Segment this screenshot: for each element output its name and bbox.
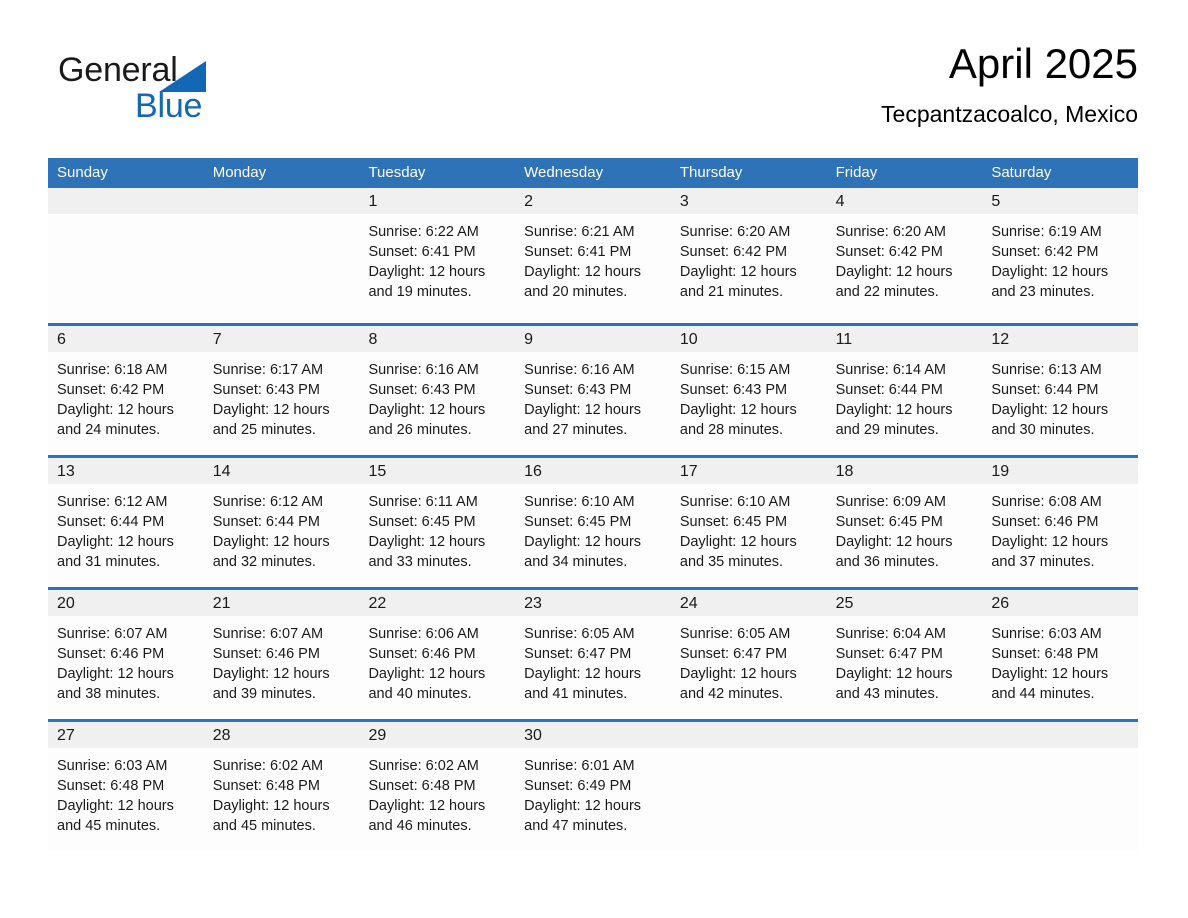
daylight-duration-line1: Daylight: 12 hours — [836, 532, 975, 552]
sunrise-time: Sunrise: 6:15 AM — [680, 360, 819, 380]
calendar-day-cell[interactable]: 6Sunrise: 6:18 AMSunset: 6:42 PMDaylight… — [48, 326, 204, 455]
daylight-duration-line1: Daylight: 12 hours — [991, 664, 1130, 684]
day-sun-info: Sunrise: 6:14 AMSunset: 6:44 PMDaylight:… — [827, 352, 983, 440]
sunset-time: Sunset: 6:45 PM — [680, 512, 819, 532]
sunset-time: Sunset: 6:43 PM — [524, 380, 663, 400]
sunset-time: Sunset: 6:45 PM — [524, 512, 663, 532]
day-sun-info: Sunrise: 6:13 AMSunset: 6:44 PMDaylight:… — [982, 352, 1138, 440]
day-number: 30 — [515, 722, 671, 748]
day-sun-info: Sunrise: 6:15 AMSunset: 6:43 PMDaylight:… — [671, 352, 827, 440]
day-sun-info: Sunrise: 6:07 AMSunset: 6:46 PMDaylight:… — [204, 616, 360, 704]
day-sun-info: Sunrise: 6:20 AMSunset: 6:42 PMDaylight:… — [671, 214, 827, 302]
calendar-day-cell[interactable]: 14Sunrise: 6:12 AMSunset: 6:44 PMDayligh… — [204, 458, 360, 587]
calendar-day-cell[interactable]: 11Sunrise: 6:14 AMSunset: 6:44 PMDayligh… — [827, 326, 983, 455]
sunset-time: Sunset: 6:47 PM — [524, 644, 663, 664]
day-sun-info: Sunrise: 6:05 AMSunset: 6:47 PMDaylight:… — [515, 616, 671, 704]
day-number: 25 — [827, 590, 983, 616]
sunrise-time: Sunrise: 6:20 AM — [836, 222, 975, 242]
day-sun-info: Sunrise: 6:02 AMSunset: 6:48 PMDaylight:… — [359, 748, 515, 836]
daylight-duration-line1: Daylight: 12 hours — [368, 400, 507, 420]
sunset-time: Sunset: 6:42 PM — [680, 242, 819, 262]
daylight-duration-line2: and 46 minutes. — [368, 816, 507, 836]
daylight-duration-line1: Daylight: 12 hours — [57, 532, 196, 552]
calendar-day-cell-empty — [827, 722, 983, 851]
daylight-duration-line1: Daylight: 12 hours — [680, 400, 819, 420]
daylight-duration-line1: Daylight: 12 hours — [680, 532, 819, 552]
sunset-time: Sunset: 6:42 PM — [991, 242, 1130, 262]
daylight-duration-line2: and 24 minutes. — [57, 420, 196, 440]
calendar-day-cell[interactable]: 4Sunrise: 6:20 AMSunset: 6:42 PMDaylight… — [827, 188, 983, 323]
sunrise-time: Sunrise: 6:14 AM — [836, 360, 975, 380]
sunrise-time: Sunrise: 6:03 AM — [991, 624, 1130, 644]
daylight-duration-line2: and 27 minutes. — [524, 420, 663, 440]
daylight-duration-line2: and 43 minutes. — [836, 684, 975, 704]
sunset-time: Sunset: 6:41 PM — [368, 242, 507, 262]
calendar-day-cell[interactable]: 21Sunrise: 6:07 AMSunset: 6:46 PMDayligh… — [204, 590, 360, 719]
daylight-duration-line1: Daylight: 12 hours — [57, 400, 196, 420]
day-sun-info: Sunrise: 6:10 AMSunset: 6:45 PMDaylight:… — [515, 484, 671, 572]
daylight-duration-line1: Daylight: 12 hours — [368, 664, 507, 684]
calendar-day-cell[interactable]: 19Sunrise: 6:08 AMSunset: 6:46 PMDayligh… — [982, 458, 1138, 587]
daylight-duration-line2: and 37 minutes. — [991, 552, 1130, 572]
sunrise-time: Sunrise: 6:06 AM — [368, 624, 507, 644]
day-number: 27 — [48, 722, 204, 748]
calendar-grid: Sunday Monday Tuesday Wednesday Thursday… — [48, 158, 1138, 851]
daylight-duration-line2: and 38 minutes. — [57, 684, 196, 704]
day-number: 17 — [671, 458, 827, 484]
day-number: 19 — [982, 458, 1138, 484]
daylight-duration-line1: Daylight: 12 hours — [57, 796, 196, 816]
daylight-duration-line2: and 19 minutes. — [368, 282, 507, 302]
daylight-duration-line2: and 25 minutes. — [213, 420, 352, 440]
day-number: 23 — [515, 590, 671, 616]
day-number: 9 — [515, 326, 671, 352]
calendar-day-cell[interactable]: 5Sunrise: 6:19 AMSunset: 6:42 PMDaylight… — [982, 188, 1138, 323]
calendar-day-cell[interactable]: 29Sunrise: 6:02 AMSunset: 6:48 PMDayligh… — [359, 722, 515, 851]
daylight-duration-line2: and 31 minutes. — [57, 552, 196, 572]
sunrise-time: Sunrise: 6:07 AM — [213, 624, 352, 644]
day-number: 1 — [359, 188, 515, 214]
daylight-duration-line2: and 45 minutes. — [213, 816, 352, 836]
day-sun-info: Sunrise: 6:11 AMSunset: 6:45 PMDaylight:… — [359, 484, 515, 572]
day-number: 29 — [359, 722, 515, 748]
sunrise-time: Sunrise: 6:02 AM — [368, 756, 507, 776]
day-sun-info: Sunrise: 6:07 AMSunset: 6:46 PMDaylight:… — [48, 616, 204, 704]
day-number: 10 — [671, 326, 827, 352]
sunset-time: Sunset: 6:48 PM — [991, 644, 1130, 664]
day-number — [827, 722, 983, 748]
daylight-duration-line1: Daylight: 12 hours — [524, 664, 663, 684]
day-sun-info: Sunrise: 6:03 AMSunset: 6:48 PMDaylight:… — [982, 616, 1138, 704]
day-sun-info: Sunrise: 6:22 AMSunset: 6:41 PMDaylight:… — [359, 214, 515, 302]
daylight-duration-line2: and 36 minutes. — [836, 552, 975, 572]
day-sun-info: Sunrise: 6:09 AMSunset: 6:45 PMDaylight:… — [827, 484, 983, 572]
sunset-time: Sunset: 6:44 PM — [213, 512, 352, 532]
day-number: 26 — [982, 590, 1138, 616]
sunset-time: Sunset: 6:48 PM — [368, 776, 507, 796]
day-sun-info: Sunrise: 6:08 AMSunset: 6:46 PMDaylight:… — [982, 484, 1138, 572]
page-subtitle-location: Tecpantzacoalco, Mexico — [881, 100, 1138, 128]
sunset-time: Sunset: 6:45 PM — [368, 512, 507, 532]
sunrise-time: Sunrise: 6:20 AM — [680, 222, 819, 242]
sunset-time: Sunset: 6:45 PM — [836, 512, 975, 532]
day-sun-info: Sunrise: 6:16 AMSunset: 6:43 PMDaylight:… — [359, 352, 515, 440]
sunset-time: Sunset: 6:42 PM — [57, 380, 196, 400]
day-sun-info: Sunrise: 6:16 AMSunset: 6:43 PMDaylight:… — [515, 352, 671, 440]
daylight-duration-line2: and 47 minutes. — [524, 816, 663, 836]
daylight-duration-line1: Daylight: 12 hours — [524, 400, 663, 420]
day-sun-info: Sunrise: 6:04 AMSunset: 6:47 PMDaylight:… — [827, 616, 983, 704]
calendar-day-cell[interactable]: 1Sunrise: 6:22 AMSunset: 6:41 PMDaylight… — [359, 188, 515, 323]
daylight-duration-line2: and 30 minutes. — [991, 420, 1130, 440]
calendar-week-row: 6Sunrise: 6:18 AMSunset: 6:42 PMDaylight… — [48, 323, 1138, 455]
sunrise-time: Sunrise: 6:19 AM — [991, 222, 1130, 242]
calendar-day-cell[interactable]: 8Sunrise: 6:16 AMSunset: 6:43 PMDaylight… — [359, 326, 515, 455]
calendar-weeks: 1Sunrise: 6:22 AMSunset: 6:41 PMDaylight… — [48, 188, 1138, 851]
weekday-header-friday: Friday — [827, 158, 983, 188]
calendar-day-cell[interactable]: 26Sunrise: 6:03 AMSunset: 6:48 PMDayligh… — [982, 590, 1138, 719]
daylight-duration-line1: Daylight: 12 hours — [991, 262, 1130, 282]
sunrise-time: Sunrise: 6:16 AM — [524, 360, 663, 380]
daylight-duration-line1: Daylight: 12 hours — [213, 664, 352, 684]
day-sun-info: Sunrise: 6:01 AMSunset: 6:49 PMDaylight:… — [515, 748, 671, 836]
daylight-duration-line1: Daylight: 12 hours — [836, 262, 975, 282]
daylight-duration-line1: Daylight: 12 hours — [213, 532, 352, 552]
daylight-duration-line1: Daylight: 12 hours — [991, 400, 1130, 420]
daylight-duration-line1: Daylight: 12 hours — [836, 400, 975, 420]
sunrise-time: Sunrise: 6:11 AM — [368, 492, 507, 512]
day-number: 22 — [359, 590, 515, 616]
daylight-duration-line2: and 26 minutes. — [368, 420, 507, 440]
day-number: 5 — [982, 188, 1138, 214]
sunrise-time: Sunrise: 6:03 AM — [57, 756, 196, 776]
daylight-duration-line1: Daylight: 12 hours — [57, 664, 196, 684]
sunrise-time: Sunrise: 6:05 AM — [524, 624, 663, 644]
sunset-time: Sunset: 6:44 PM — [836, 380, 975, 400]
day-sun-info: Sunrise: 6:12 AMSunset: 6:44 PMDaylight:… — [48, 484, 204, 572]
calendar-week-row: 20Sunrise: 6:07 AMSunset: 6:46 PMDayligh… — [48, 587, 1138, 719]
sunset-time: Sunset: 6:47 PM — [836, 644, 975, 664]
day-sun-info: Sunrise: 6:05 AMSunset: 6:47 PMDaylight:… — [671, 616, 827, 704]
day-number: 12 — [982, 326, 1138, 352]
day-number — [982, 722, 1138, 748]
sunrise-time: Sunrise: 6:04 AM — [836, 624, 975, 644]
sunrise-time: Sunrise: 6:13 AM — [991, 360, 1130, 380]
day-number: 14 — [204, 458, 360, 484]
sunset-time: Sunset: 6:48 PM — [57, 776, 196, 796]
sunset-time: Sunset: 6:43 PM — [680, 380, 819, 400]
calendar-day-cell[interactable]: 30Sunrise: 6:01 AMSunset: 6:49 PMDayligh… — [515, 722, 671, 851]
calendar-week-row: 13Sunrise: 6:12 AMSunset: 6:44 PMDayligh… — [48, 455, 1138, 587]
daylight-duration-line2: and 41 minutes. — [524, 684, 663, 704]
calendar-day-cell[interactable]: 13Sunrise: 6:12 AMSunset: 6:44 PMDayligh… — [48, 458, 204, 587]
day-number — [48, 188, 204, 214]
daylight-duration-line2: and 22 minutes. — [836, 282, 975, 302]
calendar-day-cell[interactable]: 23Sunrise: 6:05 AMSunset: 6:47 PMDayligh… — [515, 590, 671, 719]
weekday-header-monday: Monday — [204, 158, 360, 188]
sunrise-time: Sunrise: 6:22 AM — [368, 222, 507, 242]
weekday-header-sunday: Sunday — [48, 158, 204, 188]
day-number — [671, 722, 827, 748]
calendar-day-cell[interactable]: 2Sunrise: 6:21 AMSunset: 6:41 PMDaylight… — [515, 188, 671, 323]
daylight-duration-line2: and 21 minutes. — [680, 282, 819, 302]
daylight-duration-line1: Daylight: 12 hours — [680, 664, 819, 684]
sunrise-time: Sunrise: 6:10 AM — [680, 492, 819, 512]
weekday-header-thursday: Thursday — [671, 158, 827, 188]
calendar-day-cell[interactable]: 9Sunrise: 6:16 AMSunset: 6:43 PMDaylight… — [515, 326, 671, 455]
sunrise-time: Sunrise: 6:16 AM — [368, 360, 507, 380]
daylight-duration-line2: and 23 minutes. — [991, 282, 1130, 302]
daylight-duration-line2: and 33 minutes. — [368, 552, 507, 572]
day-sun-info: Sunrise: 6:20 AMSunset: 6:42 PMDaylight:… — [827, 214, 983, 302]
general-blue-logo: General Blue — [58, 50, 318, 136]
daylight-duration-line2: and 40 minutes. — [368, 684, 507, 704]
sunset-time: Sunset: 6:46 PM — [991, 512, 1130, 532]
day-number: 16 — [515, 458, 671, 484]
day-number: 3 — [671, 188, 827, 214]
daylight-duration-line1: Daylight: 12 hours — [836, 664, 975, 684]
calendar-day-cell[interactable]: 24Sunrise: 6:05 AMSunset: 6:47 PMDayligh… — [671, 590, 827, 719]
calendar-day-cell-empty — [671, 722, 827, 851]
calendar-day-cell[interactable]: 28Sunrise: 6:02 AMSunset: 6:48 PMDayligh… — [204, 722, 360, 851]
day-number: 18 — [827, 458, 983, 484]
day-number: 24 — [671, 590, 827, 616]
weekday-header-wednesday: Wednesday — [515, 158, 671, 188]
sunset-time: Sunset: 6:43 PM — [368, 380, 507, 400]
sunrise-time: Sunrise: 6:12 AM — [213, 492, 352, 512]
day-number: 21 — [204, 590, 360, 616]
daylight-duration-line2: and 29 minutes. — [836, 420, 975, 440]
daylight-duration-line1: Daylight: 12 hours — [213, 796, 352, 816]
sunrise-time: Sunrise: 6:09 AM — [836, 492, 975, 512]
day-sun-info: Sunrise: 6:10 AMSunset: 6:45 PMDaylight:… — [671, 484, 827, 572]
day-number: 13 — [48, 458, 204, 484]
day-sun-info: Sunrise: 6:03 AMSunset: 6:48 PMDaylight:… — [48, 748, 204, 836]
day-number: 28 — [204, 722, 360, 748]
calendar-day-cell[interactable]: 12Sunrise: 6:13 AMSunset: 6:44 PMDayligh… — [982, 326, 1138, 455]
daylight-duration-line1: Daylight: 12 hours — [680, 262, 819, 282]
calendar-page: General Blue April 2025 Tecpantzacoalco,… — [0, 0, 1188, 918]
day-sun-info: Sunrise: 6:12 AMSunset: 6:44 PMDaylight:… — [204, 484, 360, 572]
day-sun-info: Sunrise: 6:18 AMSunset: 6:42 PMDaylight:… — [48, 352, 204, 440]
calendar-day-cell[interactable]: 3Sunrise: 6:20 AMSunset: 6:42 PMDaylight… — [671, 188, 827, 323]
sunrise-time: Sunrise: 6:12 AM — [57, 492, 196, 512]
daylight-duration-line2: and 44 minutes. — [991, 684, 1130, 704]
day-number: 15 — [359, 458, 515, 484]
day-number: 6 — [48, 326, 204, 352]
calendar-day-cell[interactable]: 22Sunrise: 6:06 AMSunset: 6:46 PMDayligh… — [359, 590, 515, 719]
title-block: April 2025 Tecpantzacoalco, Mexico — [881, 38, 1138, 128]
calendar-day-cell[interactable]: 17Sunrise: 6:10 AMSunset: 6:45 PMDayligh… — [671, 458, 827, 587]
calendar-day-cell[interactable]: 27Sunrise: 6:03 AMSunset: 6:48 PMDayligh… — [48, 722, 204, 851]
sunset-time: Sunset: 6:48 PM — [213, 776, 352, 796]
daylight-duration-line1: Daylight: 12 hours — [368, 796, 507, 816]
daylight-duration-line2: and 28 minutes. — [680, 420, 819, 440]
day-number: 4 — [827, 188, 983, 214]
daylight-duration-line1: Daylight: 12 hours — [524, 262, 663, 282]
calendar-week-row: 1Sunrise: 6:22 AMSunset: 6:41 PMDaylight… — [48, 188, 1138, 323]
day-sun-info: Sunrise: 6:21 AMSunset: 6:41 PMDaylight:… — [515, 214, 671, 302]
sunset-time: Sunset: 6:47 PM — [680, 644, 819, 664]
daylight-duration-line1: Daylight: 12 hours — [524, 532, 663, 552]
daylight-duration-line1: Daylight: 12 hours — [991, 532, 1130, 552]
calendar-day-cell[interactable]: 20Sunrise: 6:07 AMSunset: 6:46 PMDayligh… — [48, 590, 204, 719]
calendar-day-cell[interactable]: 18Sunrise: 6:09 AMSunset: 6:45 PMDayligh… — [827, 458, 983, 587]
calendar-day-cell[interactable]: 7Sunrise: 6:17 AMSunset: 6:43 PMDaylight… — [204, 326, 360, 455]
day-number: 2 — [515, 188, 671, 214]
daylight-duration-line1: Daylight: 12 hours — [368, 262, 507, 282]
sunrise-time: Sunrise: 6:02 AM — [213, 756, 352, 776]
sunset-time: Sunset: 6:46 PM — [213, 644, 352, 664]
sunrise-time: Sunrise: 6:17 AM — [213, 360, 352, 380]
sunrise-time: Sunrise: 6:18 AM — [57, 360, 196, 380]
day-sun-info: Sunrise: 6:06 AMSunset: 6:46 PMDaylight:… — [359, 616, 515, 704]
weekday-header-row: Sunday Monday Tuesday Wednesday Thursday… — [48, 158, 1138, 188]
day-number: 7 — [204, 326, 360, 352]
daylight-duration-line1: Daylight: 12 hours — [368, 532, 507, 552]
sunrise-time: Sunrise: 6:08 AM — [991, 492, 1130, 512]
sunset-time: Sunset: 6:42 PM — [836, 242, 975, 262]
calendar-day-cell-empty — [48, 188, 204, 323]
logo-text-blue: Blue — [135, 86, 202, 126]
calendar-day-cell[interactable]: 16Sunrise: 6:10 AMSunset: 6:45 PMDayligh… — [515, 458, 671, 587]
daylight-duration-line2: and 45 minutes. — [57, 816, 196, 836]
day-number — [204, 188, 360, 214]
calendar-day-cell[interactable]: 15Sunrise: 6:11 AMSunset: 6:45 PMDayligh… — [359, 458, 515, 587]
day-sun-info: Sunrise: 6:02 AMSunset: 6:48 PMDaylight:… — [204, 748, 360, 836]
daylight-duration-line2: and 35 minutes. — [680, 552, 819, 572]
day-number: 11 — [827, 326, 983, 352]
calendar-day-cell[interactable]: 25Sunrise: 6:04 AMSunset: 6:47 PMDayligh… — [827, 590, 983, 719]
calendar-day-cell-empty — [204, 188, 360, 323]
sunrise-time: Sunrise: 6:21 AM — [524, 222, 663, 242]
sunset-time: Sunset: 6:46 PM — [57, 644, 196, 664]
day-sun-info: Sunrise: 6:17 AMSunset: 6:43 PMDaylight:… — [204, 352, 360, 440]
sunset-time: Sunset: 6:44 PM — [991, 380, 1130, 400]
daylight-duration-line1: Daylight: 12 hours — [213, 400, 352, 420]
sunset-time: Sunset: 6:44 PM — [57, 512, 196, 532]
page-header: General Blue April 2025 Tecpantzacoalco,… — [48, 38, 1138, 150]
sunset-time: Sunset: 6:43 PM — [213, 380, 352, 400]
sunrise-time: Sunrise: 6:07 AM — [57, 624, 196, 644]
daylight-duration-line2: and 32 minutes. — [213, 552, 352, 572]
daylight-duration-line2: and 20 minutes. — [524, 282, 663, 302]
sunrise-time: Sunrise: 6:10 AM — [524, 492, 663, 512]
sunset-time: Sunset: 6:41 PM — [524, 242, 663, 262]
weekday-header-tuesday: Tuesday — [359, 158, 515, 188]
calendar-day-cell[interactable]: 10Sunrise: 6:15 AMSunset: 6:43 PMDayligh… — [671, 326, 827, 455]
day-sun-info: Sunrise: 6:19 AMSunset: 6:42 PMDaylight:… — [982, 214, 1138, 302]
sunset-time: Sunset: 6:49 PM — [524, 776, 663, 796]
daylight-duration-line2: and 42 minutes. — [680, 684, 819, 704]
calendar-week-row: 27Sunrise: 6:03 AMSunset: 6:48 PMDayligh… — [48, 719, 1138, 851]
day-number: 20 — [48, 590, 204, 616]
weekday-header-saturday: Saturday — [982, 158, 1138, 188]
calendar-day-cell-empty — [982, 722, 1138, 851]
daylight-duration-line2: and 39 minutes. — [213, 684, 352, 704]
sunrise-time: Sunrise: 6:05 AM — [680, 624, 819, 644]
day-number: 8 — [359, 326, 515, 352]
page-title: April 2025 — [881, 38, 1138, 90]
daylight-duration-line1: Daylight: 12 hours — [524, 796, 663, 816]
sunset-time: Sunset: 6:46 PM — [368, 644, 507, 664]
sunrise-time: Sunrise: 6:01 AM — [524, 756, 663, 776]
daylight-duration-line2: and 34 minutes. — [524, 552, 663, 572]
